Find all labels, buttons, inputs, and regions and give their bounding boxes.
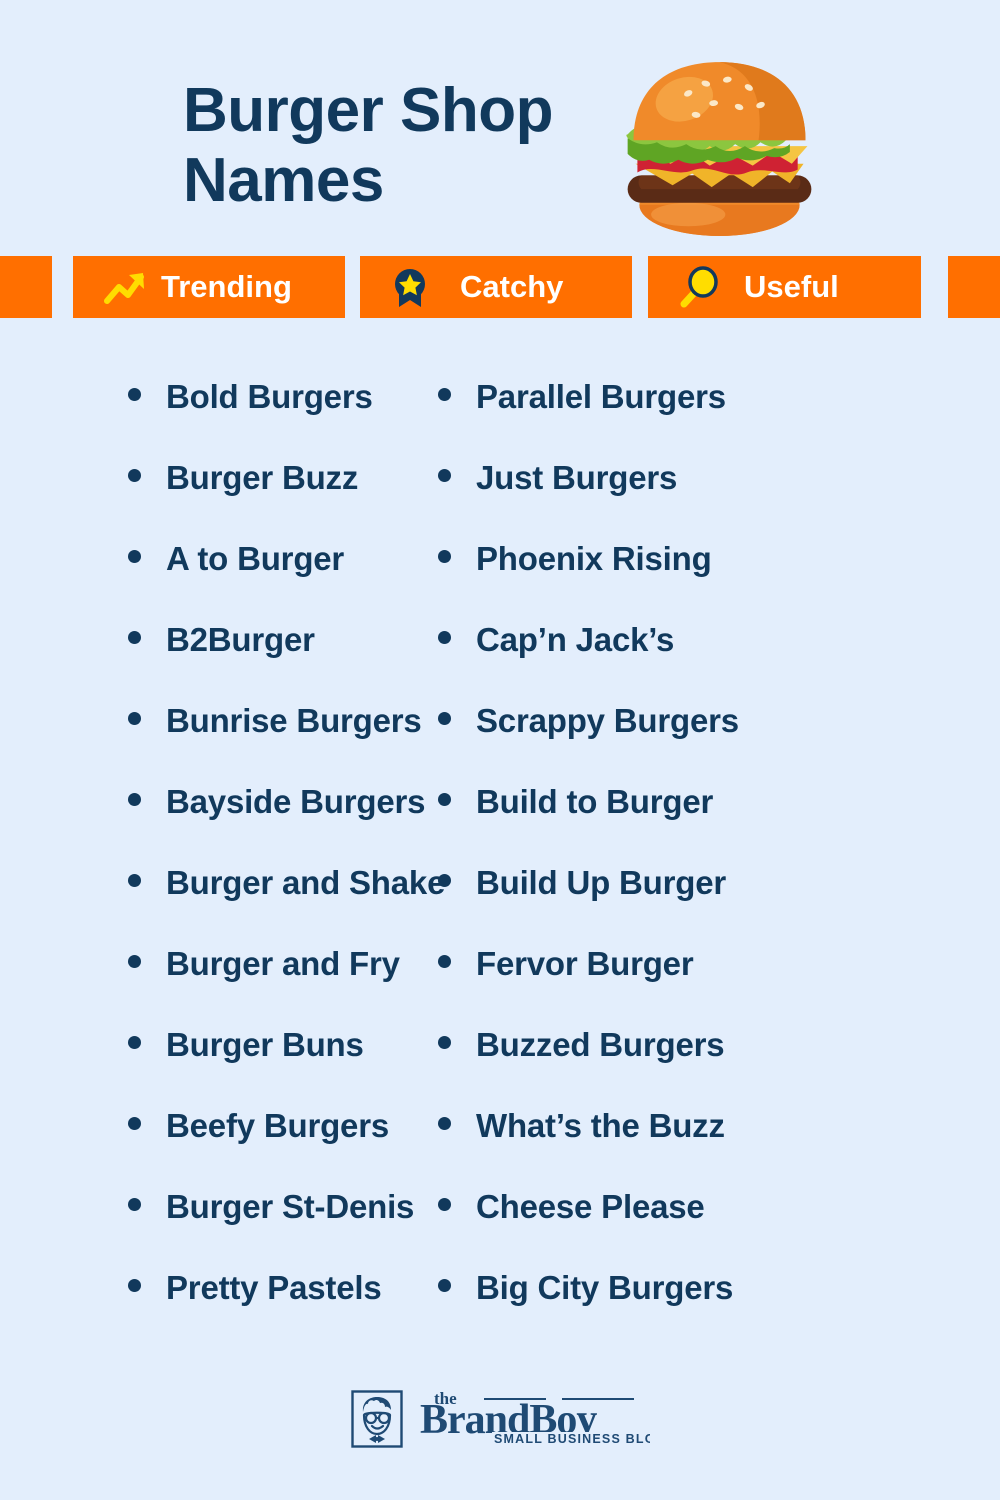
name-label: Burger and Shake: [166, 864, 445, 902]
name-label: Fervor Burger: [476, 945, 693, 983]
bullet-icon: [128, 874, 141, 887]
page-title-line-1: Burger Shop: [183, 76, 553, 145]
bullet-icon: [438, 955, 451, 968]
bullet-icon: [438, 712, 451, 725]
list-item[interactable]: Burger and Fry: [128, 945, 420, 1026]
name-label: Burger and Fry: [166, 945, 400, 983]
bullet-icon: [438, 793, 451, 806]
bullet-icon: [438, 550, 451, 563]
name-label: Build Up Burger: [476, 864, 726, 902]
list-item[interactable]: Build Up Burger: [438, 864, 920, 945]
name-label: Scrappy Burgers: [476, 702, 739, 740]
badge-strip: Trending Catchy Useful: [0, 256, 1000, 318]
burger-illustration: [612, 56, 827, 246]
bullet-icon: [438, 1117, 451, 1130]
logo-tagline: SMALL BUSINESS BLOG: [494, 1432, 650, 1446]
bullet-icon: [438, 1198, 451, 1211]
list-item[interactable]: Parallel Burgers: [438, 378, 920, 459]
name-label: Buzzed Burgers: [476, 1026, 724, 1064]
bullet-icon: [128, 388, 141, 401]
name-label: Burger Buzz: [166, 459, 358, 497]
name-label: Build to Burger: [476, 783, 713, 821]
name-label: Cap’n Jack’s: [476, 621, 674, 659]
name-label: Bold Burgers: [166, 378, 373, 416]
list-item[interactable]: Burger and Shake: [128, 864, 420, 945]
name-label: Big City Burgers: [476, 1269, 733, 1307]
list-item[interactable]: Pretty Pastels: [128, 1269, 420, 1350]
magnifier-icon: [678, 265, 722, 309]
page-title-line-2: Names: [183, 146, 384, 215]
bullet-icon: [128, 1279, 141, 1292]
list-item[interactable]: Build to Burger: [438, 783, 920, 864]
list-item[interactable]: A to Burger: [128, 540, 420, 621]
brandboy-logo[interactable]: the BrandBoy SMALL BUSINESS BLOG: [351, 1388, 650, 1450]
name-label: What’s the Buzz: [476, 1107, 725, 1145]
list-item[interactable]: Bold Burgers: [128, 378, 420, 459]
bullet-icon: [128, 1198, 141, 1211]
bullet-icon: [128, 631, 141, 644]
list-item[interactable]: Just Burgers: [438, 459, 920, 540]
list-item[interactable]: Burger Buzz: [128, 459, 420, 540]
name-label: Burger Buns: [166, 1026, 364, 1064]
bullet-icon: [128, 1036, 141, 1049]
name-label: Bayside Burgers: [166, 783, 425, 821]
list-item[interactable]: Beefy Burgers: [128, 1107, 420, 1188]
page-title: Burger Shop Names: [183, 76, 623, 216]
award-star-icon: [388, 265, 432, 309]
name-label: Just Burgers: [476, 459, 677, 497]
bullet-icon: [438, 388, 451, 401]
list-item[interactable]: B2Burger: [128, 621, 420, 702]
list-item[interactable]: Big City Burgers: [438, 1269, 920, 1350]
name-label: Parallel Burgers: [476, 378, 726, 416]
badge-trending[interactable]: Trending: [73, 256, 345, 318]
name-column-left: Bold Burgers Burger Buzz A to Burger B2B…: [0, 378, 420, 1350]
name-label: Burger St-Denis: [166, 1188, 414, 1226]
badge-label: Trending: [161, 269, 292, 305]
list-item[interactable]: Cheese Please: [438, 1188, 920, 1269]
list-item[interactable]: Bayside Burgers: [128, 783, 420, 864]
badge-label: Useful: [744, 269, 839, 305]
footer: the BrandBoy SMALL BUSINESS BLOG: [0, 1388, 1000, 1450]
list-item[interactable]: Burger Buns: [128, 1026, 420, 1107]
bullet-icon: [438, 1279, 451, 1292]
name-label: Bunrise Burgers: [166, 702, 422, 740]
header: Burger Shop Names: [0, 0, 1000, 250]
bullet-icon: [128, 793, 141, 806]
list-item[interactable]: Phoenix Rising: [438, 540, 920, 621]
list-item[interactable]: Cap’n Jack’s: [438, 621, 920, 702]
badge-useful[interactable]: Useful: [648, 256, 921, 318]
list-item[interactable]: What’s the Buzz: [438, 1107, 920, 1188]
bullet-icon: [438, 1036, 451, 1049]
name-lists: Bold Burgers Burger Buzz A to Burger B2B…: [0, 378, 1000, 1350]
list-item[interactable]: Burger St-Denis: [128, 1188, 420, 1269]
bullet-icon: [438, 631, 451, 644]
name-label: Beefy Burgers: [166, 1107, 389, 1145]
bullet-icon: [128, 1117, 141, 1130]
name-label: Cheese Please: [476, 1188, 705, 1226]
name-label: Phoenix Rising: [476, 540, 712, 578]
bullet-icon: [128, 469, 141, 482]
badge-catchy[interactable]: Catchy: [360, 256, 632, 318]
list-item[interactable]: Bunrise Burgers: [128, 702, 420, 783]
name-label: A to Burger: [166, 540, 344, 578]
bullet-icon: [438, 874, 451, 887]
brandboy-face-logo: [351, 1390, 403, 1448]
brandboy-wordmark: the BrandBoy SMALL BUSINESS BLOG: [412, 1388, 650, 1450]
name-label: B2Burger: [166, 621, 315, 659]
bullet-icon: [438, 469, 451, 482]
list-item[interactable]: Buzzed Burgers: [438, 1026, 920, 1107]
strip-cap-right: [948, 256, 1000, 318]
trending-up-icon: [103, 265, 147, 309]
bullet-icon: [128, 955, 141, 968]
badge-label: Catchy: [460, 269, 563, 305]
strip-cap-left: [0, 256, 52, 318]
list-item[interactable]: Scrappy Burgers: [438, 702, 920, 783]
bullet-icon: [128, 712, 141, 725]
name-column-right: Parallel Burgers Just Burgers Phoenix Ri…: [420, 378, 920, 1350]
list-item[interactable]: Fervor Burger: [438, 945, 920, 1026]
name-label: Pretty Pastels: [166, 1269, 382, 1307]
bullet-icon: [128, 550, 141, 563]
